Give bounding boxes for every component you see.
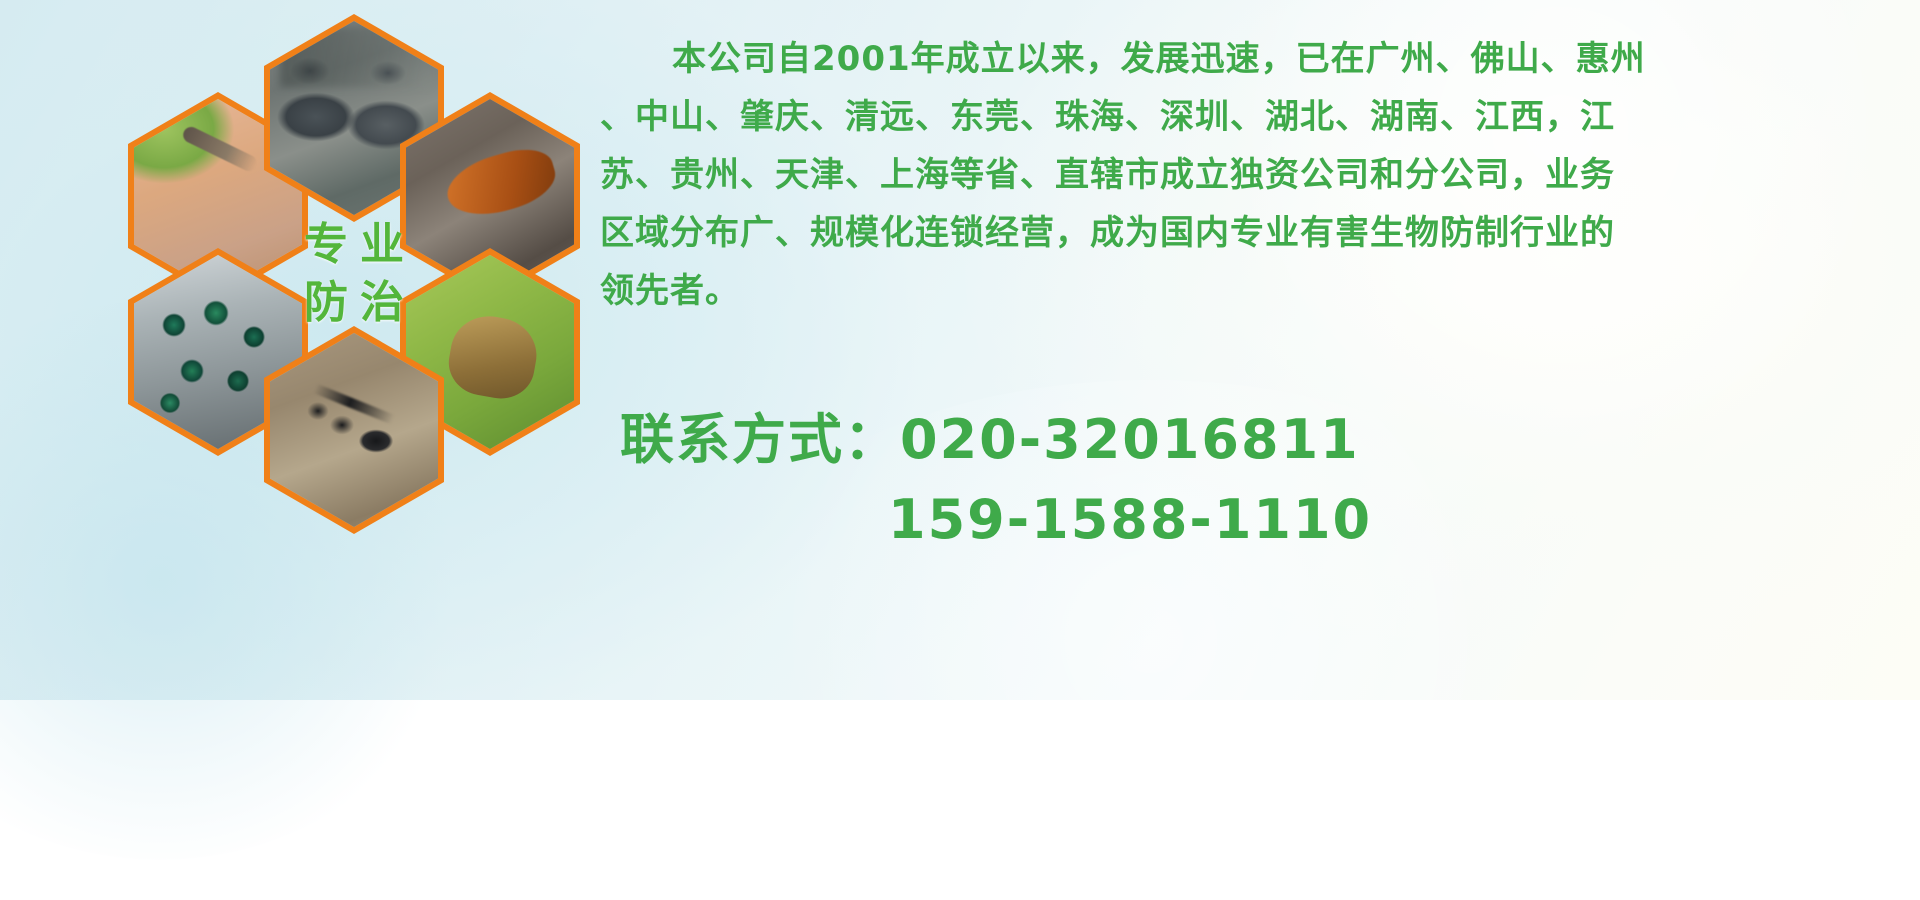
description-line-2: 、中山、肇庆、清远、东莞、珠海、深圳、湖北、湖南、江西，江: [600, 88, 1890, 146]
contact-block: 联系方式：020-32016811 159-1588-1110: [620, 400, 1920, 560]
promo-banner: 专业 防治 本公司自2001年成立以来，发展迅速，已在广州、佛山、惠州 、中山、…: [0, 0, 1920, 700]
hex-inner-slogan: 专业 防治: [270, 177, 438, 371]
honeycomb-photo-cluster: 专业 防治: [80, 0, 600, 580]
contact-primary[interactable]: 联系方式：020-32016811: [620, 400, 1920, 480]
slogan-line-2: 防治: [292, 274, 416, 332]
description-line-1: 本公司自2001年成立以来，发展迅速，已在广州、佛山、惠州: [600, 30, 1890, 88]
description-line-5: 领先者。: [600, 262, 1890, 320]
description-line-4: 区域分布广、规模化连锁经营，成为国内专业有害生物防制行业的: [600, 204, 1890, 262]
company-description: 本公司自2001年成立以来，发展迅速，已在广州、佛山、惠州 、中山、肇庆、清远、…: [600, 30, 1890, 320]
contact-secondary[interactable]: 159-1588-1110: [620, 480, 1920, 560]
slogan-line-1: 专业: [292, 216, 416, 274]
description-line-3: 苏、贵州、天津、上海等省、直辖市成立独资公司和分公司，业务: [600, 146, 1890, 204]
